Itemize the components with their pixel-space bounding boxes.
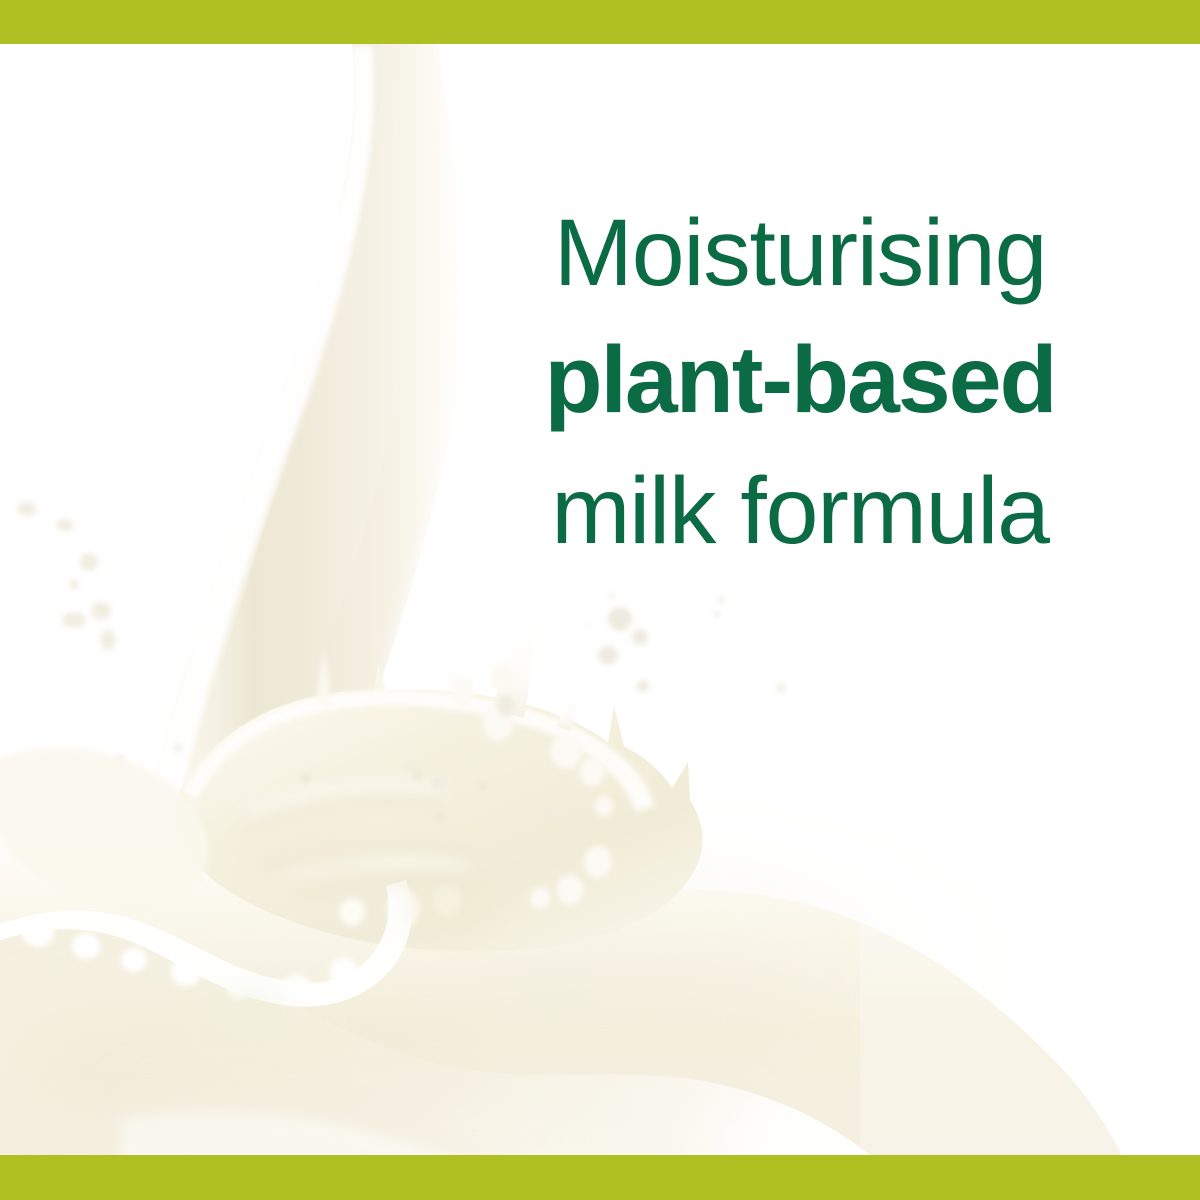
bottom-accent-bar	[0, 1155, 1200, 1200]
milk-pour-splash-photo	[0, 0, 1200, 1200]
banner-canvas: Moisturising plant-based milk formula	[0, 0, 1200, 1200]
headline-line-2-emphasis: plant-based	[455, 333, 1145, 428]
headline-line-1: Moisturising	[455, 206, 1145, 301]
top-accent-bar	[0, 0, 1200, 44]
headline-block: Moisturising plant-based milk formula	[455, 206, 1145, 559]
headline-line-3: milk formula	[455, 464, 1145, 559]
